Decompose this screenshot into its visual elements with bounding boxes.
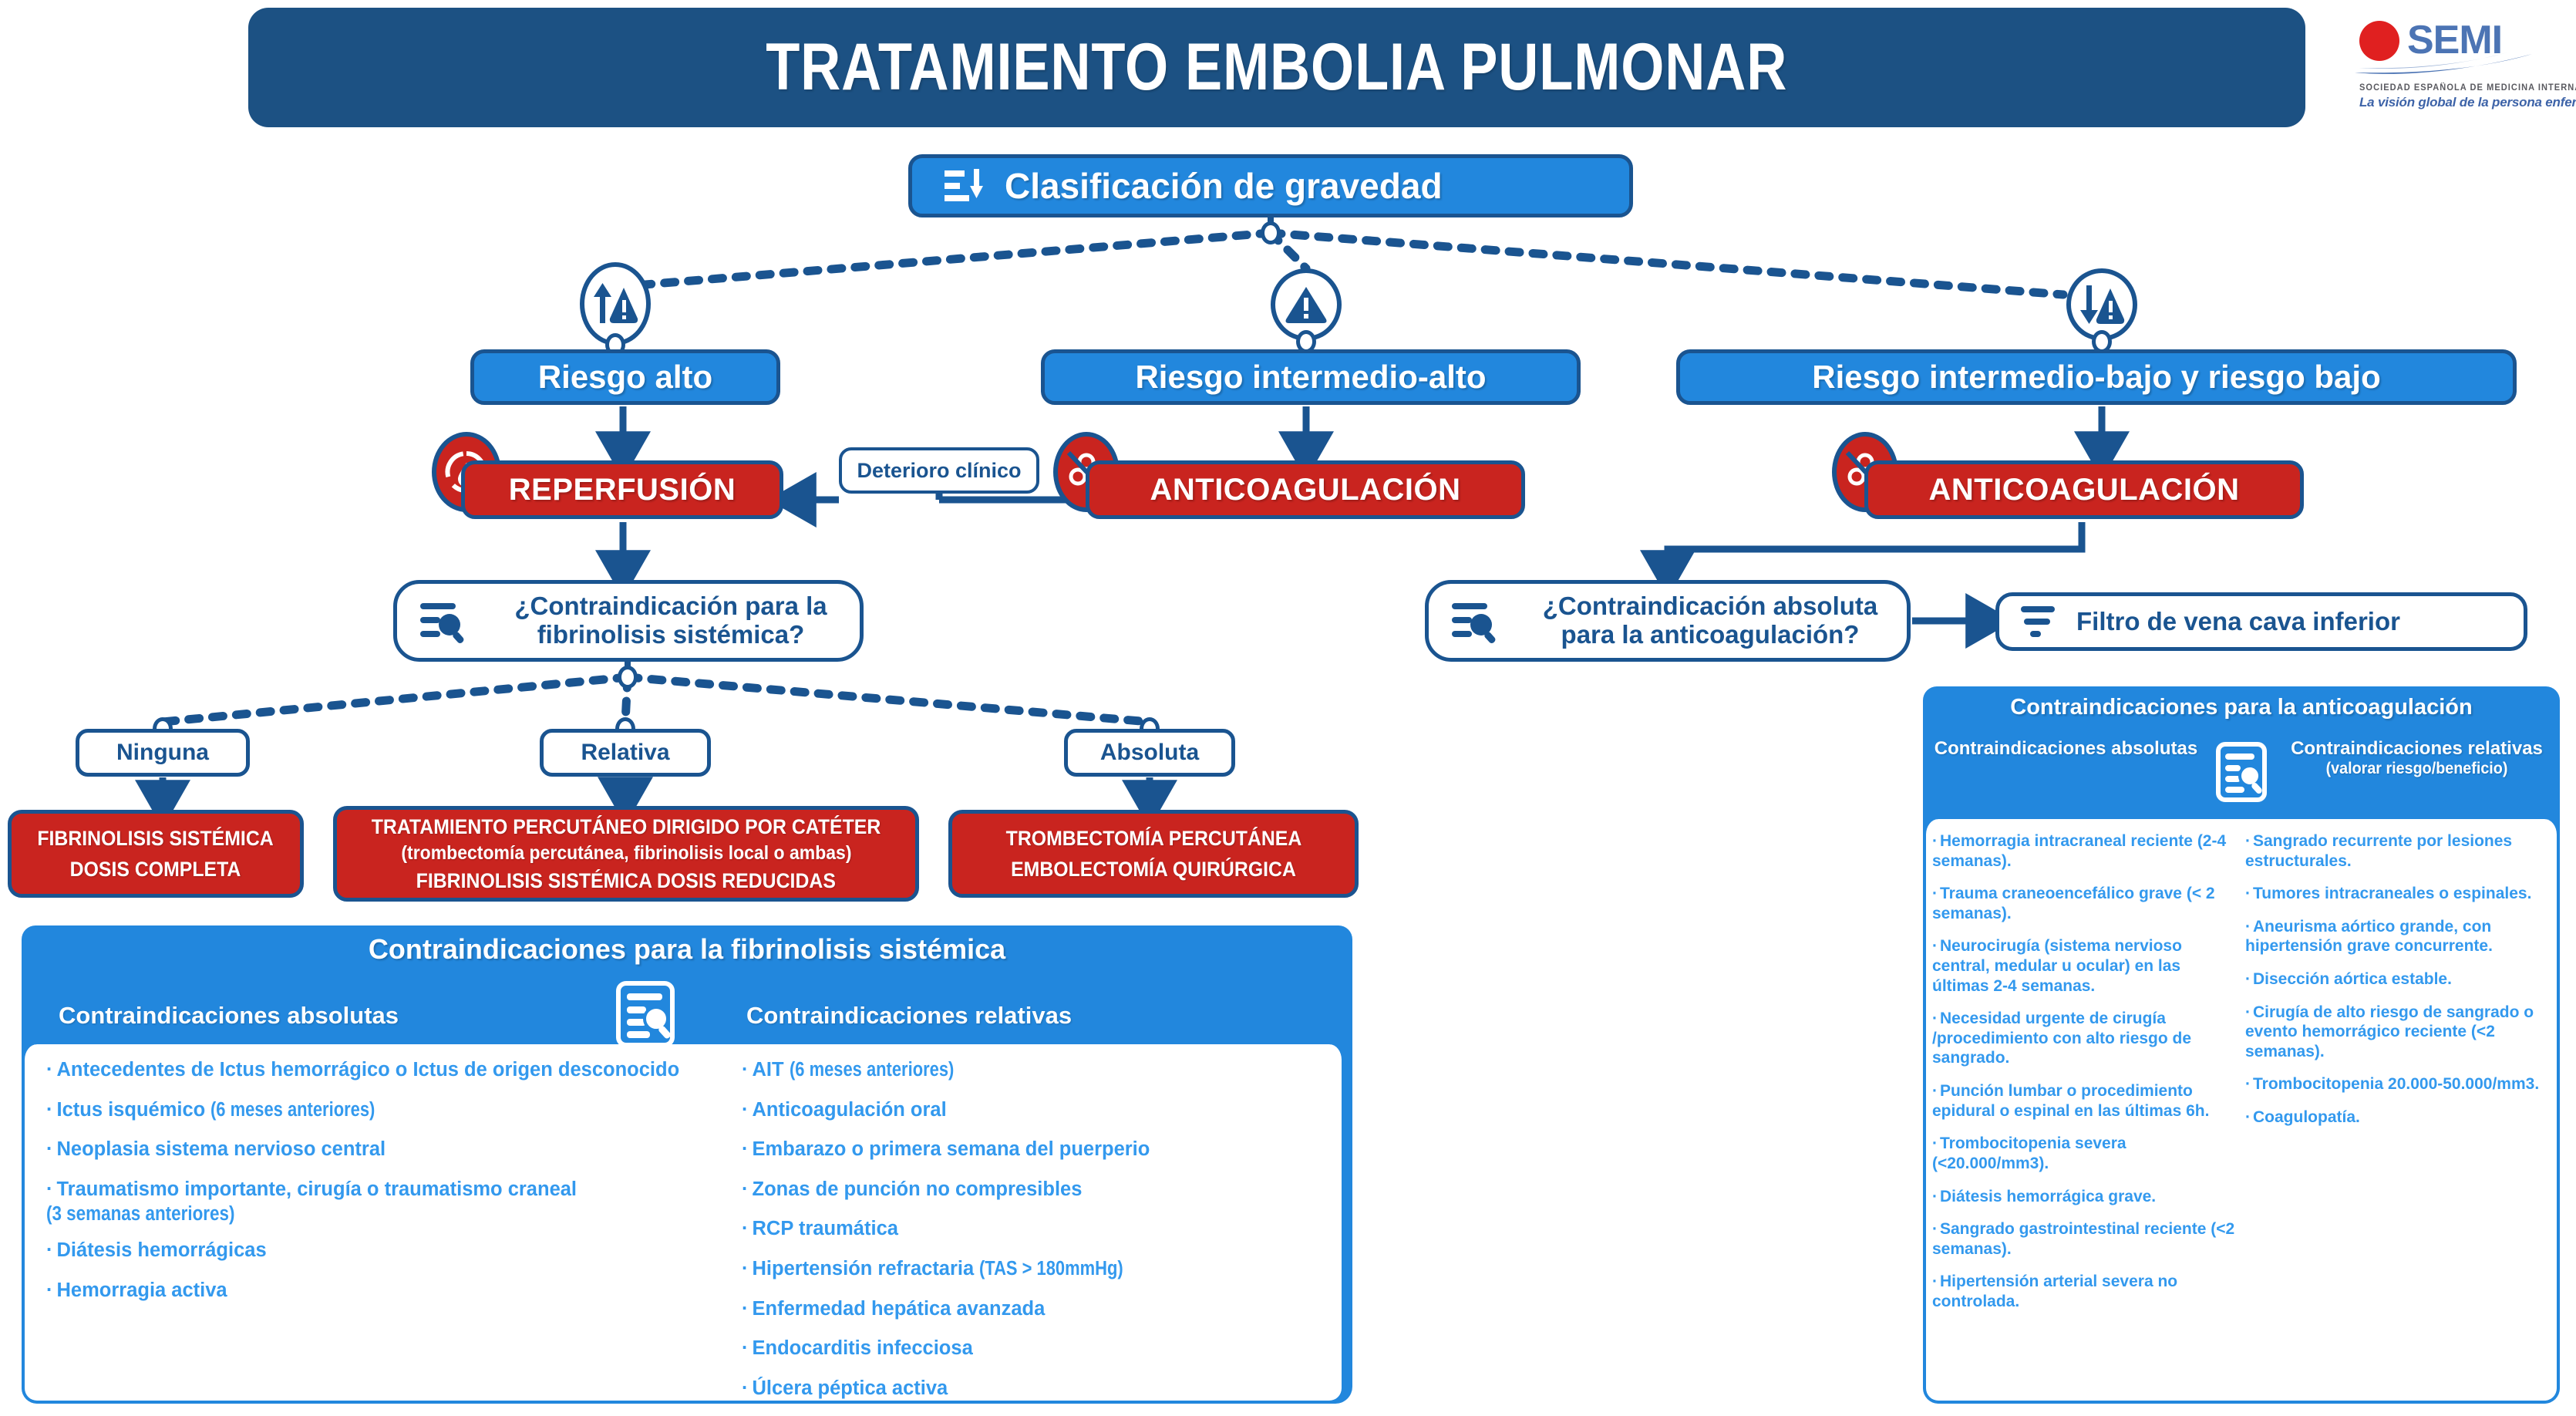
arrow-up-warning-icon <box>591 282 639 326</box>
fibrinolysis-relative-list: ·AIT (6 meses anteriores) ·Anticoagulaci… <box>742 1058 1328 1416</box>
decision-fibrinolysis-node[interactable]: ¿Contraindicación para la fibrinolisis s… <box>393 580 864 662</box>
result-relative-node[interactable]: TRATAMIENTO PERCUTÁNEO DIRIGIDO POR CATÉ… <box>333 806 919 902</box>
panel-anticoagulation-column-headers: Contraindicaciones absolutas Contrain <box>1923 728 2560 819</box>
logo-society-name: SOCIEDAD ESPAÑOLA DE MEDICINA INTERNA <box>2359 83 2559 93</box>
risk-low-node[interactable]: Riesgo intermedio-bajo y riesgo bajo <box>1676 349 2517 405</box>
connector-knob <box>618 666 638 689</box>
panel-fibrinolysis-relative-title: Contraindicaciones relativas <box>746 1002 1072 1030</box>
list-item: ·Zonas de punción no compresibles <box>742 1178 1328 1202</box>
list-item: ·Neoplasia sistema nervioso central <box>46 1138 717 1161</box>
list-item: ·Hipertensión arterial severa no control… <box>1932 1272 2238 1311</box>
result-none-line-2: DOSIS COMPLETA <box>70 854 241 885</box>
clinical-deterioration-node[interactable]: Deterioro clínico <box>839 447 1039 494</box>
branch-relative-node[interactable]: Relativa <box>540 729 711 777</box>
warning-triangle-icon <box>1285 285 1328 324</box>
panel-anticoagulation-icon-wrap <box>2204 739 2278 802</box>
result-relative-line-2: (trombectomía percutánea, fibrinolisis l… <box>401 841 851 867</box>
risk-high-label: Riesgo alto <box>538 359 712 396</box>
anticoagulation-absolute-title: Contraindicaciones absolutas <box>1928 739 2204 760</box>
ivc-filter-node[interactable]: Filtro de vena cava inferior <box>1995 592 2527 651</box>
anticoagulation-relative-subtitle: (valorar riesgo/beneficio) <box>2287 760 2547 778</box>
decision-fibrinolysis-line-1: ¿Contraindicación para la <box>482 592 860 621</box>
panel-fibrinolysis-card: ·Antecedentes de Ictus hemorrágico o Ict… <box>22 1044 1345 1404</box>
panel-anticoagulation-contraindications: Contraindicaciones para la anticoagulaci… <box>1923 686 2560 1404</box>
decision-fibrinolysis-line-2: fibrinolisis sistémica? <box>482 621 860 649</box>
list-item: ·Diátesis hemorrágica grave. <box>1932 1187 2238 1207</box>
list-item: ·Disección aórtica estable. <box>2245 969 2551 990</box>
result-none-node[interactable]: FIBRINOLISIS SISTÉMICA DOSIS COMPLETA <box>8 810 304 898</box>
list-item: ·Neurocirugía (sistema nervioso central,… <box>1932 936 2238 996</box>
list-item: ·Sangrado recurrente por lesiones estruc… <box>2245 831 2551 871</box>
panel-anticoagulation-card: ·Hemorragia intracraneal reciente (2-4 s… <box>1923 819 2560 1404</box>
sort-descending-icon <box>945 167 985 204</box>
clinical-deterioration-label: Deterioro clínico <box>857 459 1021 483</box>
reperfusion-label: REPERFUSIÓN <box>509 473 736 507</box>
risk-low-label: Riesgo intermedio-bajo y riesgo bajo <box>1812 359 2380 396</box>
list-item: ·Hemorragia intracraneal reciente (2-4 s… <box>1932 831 2238 871</box>
branch-absolute-label: Absoluta <box>1100 740 1199 766</box>
page-header: TRATAMIENTO EMBOLIA PULMONAR <box>248 8 2305 127</box>
anticoagulation-label-1: ANTICOAGULACIÓN <box>1150 473 1460 507</box>
document-search-icon <box>2215 742 2268 802</box>
classification-label: Clasificación de gravedad <box>1005 165 1443 207</box>
document-search-icon <box>419 597 466 645</box>
arrow-down-warning-icon <box>2078 284 2126 325</box>
list-item: ·Aneurisma aórtico grande, con hipertens… <box>2245 917 2551 956</box>
decision-anticoagulation-line-2: para la anticoagulación? <box>1514 621 1907 649</box>
result-relative-line-1: TRATAMIENTO PERCUTÁNEO DIRIGIDO POR CATÉ… <box>372 813 881 841</box>
fibrinolysis-absolute-list: ·Antecedentes de Ictus hemorrágico o Ict… <box>46 1058 717 1318</box>
list-item: ·Trauma craneoencefálico grave (< 2 sema… <box>1932 884 2238 923</box>
list-item: ·Hemorragia activa <box>46 1279 717 1303</box>
list-item: ·Tumores intracraneales o espinales. <box>2245 884 2551 904</box>
risk-high-node[interactable]: Riesgo alto <box>470 349 780 405</box>
panel-fibrinolysis-icon-wrap <box>615 981 675 1051</box>
classification-node[interactable]: Clasificación de gravedad <box>908 154 1633 217</box>
result-none-line-1: FIBRINOLISIS SISTÉMICA <box>38 823 274 855</box>
branch-none-node[interactable]: Ninguna <box>76 729 250 777</box>
semi-logo: SEMI SOCIEDAD ESPAÑOLA DE MEDICINA INTER… <box>2359 12 2568 136</box>
list-item: ·RCP traumática <box>742 1217 1328 1241</box>
ivc-filter-label: Filtro de vena cava inferior <box>2076 608 2400 636</box>
risk-intermediate-high-label: Riesgo intermedio-alto <box>1135 359 1486 396</box>
anticoagulation-label-2: ANTICOAGULACIÓN <box>1928 473 2239 507</box>
risk-intermediate-high-node[interactable]: Riesgo intermedio-alto <box>1041 349 1581 405</box>
list-item: ·Necesidad urgente de cirugía /procedimi… <box>1932 1009 2238 1068</box>
list-item: ·Cirugía de alto riesgo de sangrado o ev… <box>2245 1003 2551 1062</box>
list-item: ·Punción lumbar o procedimiento epidural… <box>1932 1081 2238 1121</box>
funnel-filter-icon <box>2019 602 2059 642</box>
logo-swoosh-icon <box>2353 52 2535 76</box>
document-search-icon <box>1450 597 1498 645</box>
page-title: TRATAMIENTO EMBOLIA PULMONAR <box>766 29 1787 106</box>
anticoagulation-relative-list: ·Sangrado recurrente por lesiones estruc… <box>2245 831 2551 1401</box>
panel-fibrinolysis-absolute-title: Contraindicaciones absolutas <box>59 1002 399 1030</box>
list-item: ·Diátesis hemorrágicas <box>46 1239 717 1263</box>
list-item: ·Embarazo o primera semana del puerperio <box>742 1138 1328 1161</box>
anticoagulation-absolute-list: ·Hemorragia intracraneal reciente (2-4 s… <box>1932 831 2238 1401</box>
branch-absolute-node[interactable]: Absoluta <box>1064 729 1235 777</box>
panel-anticoagulation-body: Contraindicaciones absolutas Contrain <box>1923 728 2560 1404</box>
panel-fibrinolysis-contraindications: Contraindicaciones para la fibrinolisis … <box>22 925 1352 1404</box>
infographic-canvas: TRATAMIENTO EMBOLIA PULMONAR SEMI SOCIED… <box>0 0 2576 1408</box>
list-item: ·Coagulopatía. <box>2245 1108 2551 1128</box>
reperfusion-node[interactable]: REPERFUSIÓN <box>461 460 783 519</box>
connector-knob <box>1261 221 1281 244</box>
list-item: ·Antecedentes de Ictus hemorrágico o Ict… <box>46 1058 717 1082</box>
panel-fibrinolysis-title: Contraindicaciones para la fibrinolisis … <box>22 925 1352 973</box>
decision-anticoagulation-line-1: ¿Contraindicación absoluta <box>1514 592 1907 621</box>
result-absolute-line-1: TROMBECTOMÍA PERCUTÁNEA <box>1005 823 1301 855</box>
anticoagulation-node-1[interactable]: ANTICOAGULACIÓN <box>1086 460 1525 519</box>
result-absolute-node[interactable]: TROMBECTOMÍA PERCUTÁNEA EMBOLECTOMÍA QUI… <box>948 810 1359 898</box>
list-item: ·AIT (6 meses anteriores) <box>742 1058 1328 1082</box>
list-item: ·Enfermedad hepática avanzada <box>742 1297 1328 1321</box>
result-relative-line-3: FIBRINOLISIS SISTÉMICA DOSIS REDUCIDAS <box>416 867 836 895</box>
list-item: ·Úlcera péptica activa <box>742 1377 1328 1401</box>
list-item: ·Trombocitopenia severa (<20.000/mm3). <box>1932 1134 2238 1173</box>
list-item: ·Endocarditis infecciosa <box>742 1337 1328 1360</box>
decision-anticoagulation-text: ¿Contraindicación absoluta para la antic… <box>1514 592 1907 649</box>
logo-tagline: La visión global de la persona enferma <box>2359 95 2568 110</box>
anticoagulation-relative-title: Contraindicaciones relativas (valorar ri… <box>2278 739 2555 777</box>
decision-fibrinolysis-text: ¿Contraindicación para la fibrinolisis s… <box>482 592 860 649</box>
list-item: ·Trombocitopenia 20.000-50.000/mm3. <box>2245 1074 2551 1094</box>
document-search-icon <box>615 981 675 1047</box>
branch-none-label: Ninguna <box>116 740 209 766</box>
branch-relative-label: Relativa <box>581 740 669 766</box>
anticoagulation-node-2[interactable]: ANTICOAGULACIÓN <box>1864 460 2304 519</box>
decision-anticoagulation-node[interactable]: ¿Contraindicación absoluta para la antic… <box>1425 580 1911 662</box>
result-absolute-line-2: EMBOLECTOMÍA QUIRÚRGICA <box>1011 854 1296 885</box>
list-item: ·Anticoagulación oral <box>742 1098 1328 1122</box>
list-item: ·Traumatismo importante, cirugía o traum… <box>46 1178 717 1226</box>
list-item: ·Hipertensión refractaria (TAS > 180mmHg… <box>742 1257 1328 1281</box>
panel-anticoagulation-title: Contraindicaciones para la anticoagulaci… <box>1923 686 2560 728</box>
list-item: ·Sangrado gastrointestinal reciente (<2 … <box>1932 1219 2238 1259</box>
list-item: ·Ictus isquémico (6 meses anteriores) <box>46 1098 717 1122</box>
panel-fibrinolysis-body: Contraindicaciones absolutas Contraindic… <box>22 973 1352 1404</box>
